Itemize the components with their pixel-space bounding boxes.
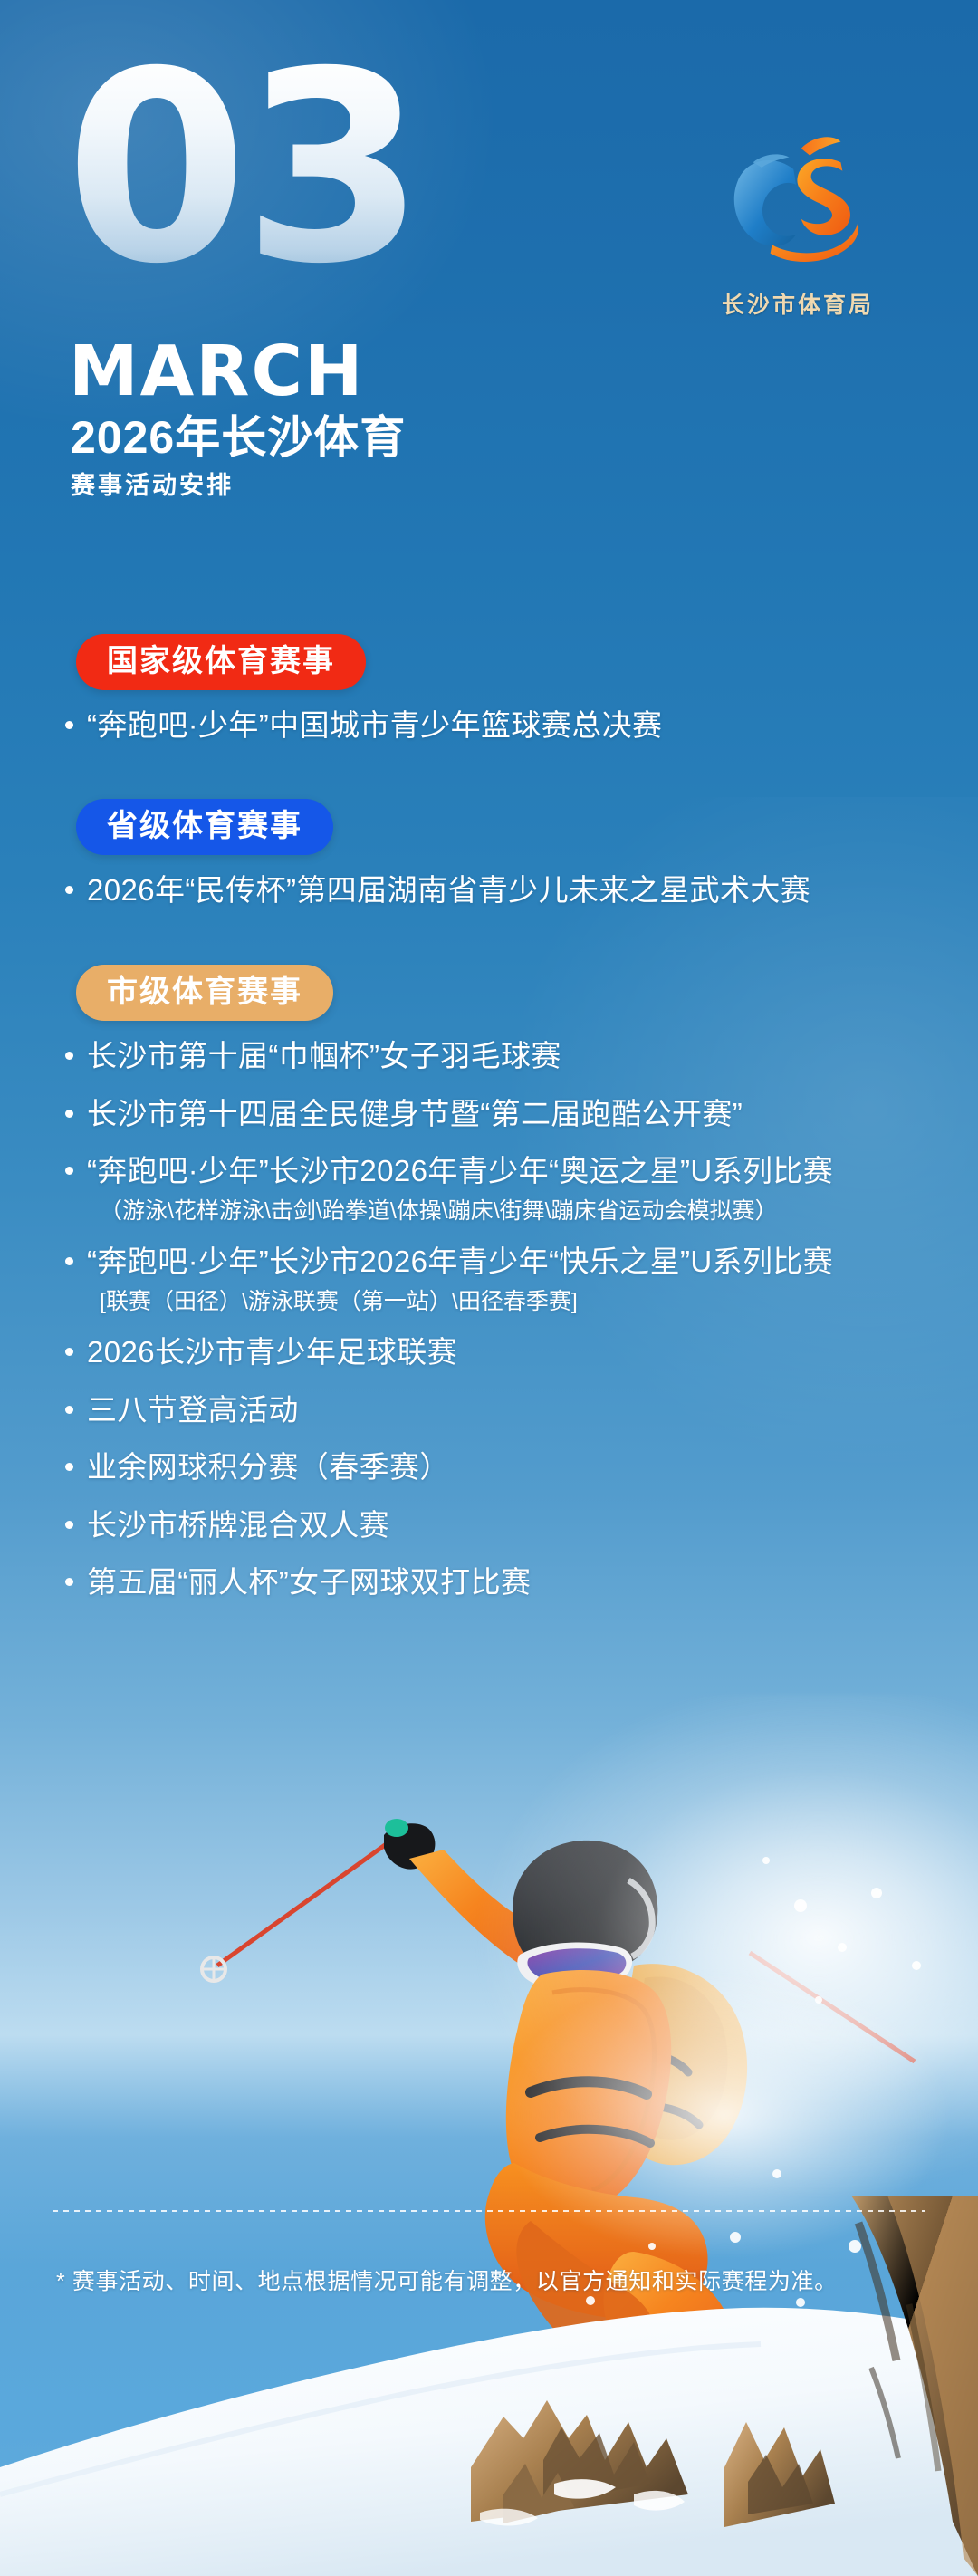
skier-photo [0,1667,978,2576]
event-title: 业余网球积分赛（春季赛） [87,1450,450,1484]
section-municipal: 市级体育赛事 长沙市第十届“巾帼杯”女子羽毛球赛 长沙市第十四届全民健身节暨“第… [0,965,978,1605]
section-badge-national: 国家级体育赛事 [76,634,366,690]
logo-caption: 长沙市体育局 [694,287,902,320]
poster-footer: * 赛事活动、时间、地点根据情况可能有调整，以官方通知和实际赛程为准。 [0,2210,978,2298]
disclaimer-text: * 赛事活动、时间、地点根据情况可能有调整，以官方通知和实际赛程为准。 [56,2266,927,2298]
section-badge-municipal: 市级体育赛事 [76,965,333,1021]
poster-root: 03 MARCH 2026年长沙体育 赛事活动安排 [0,0,978,2576]
event-title: “奔跑吧·少年”中国城市青少年篮球赛总决赛 [87,708,662,742]
event-subtitle: [联赛（田径）\游泳联赛（第一站）\田径春季赛] [87,1287,978,1318]
event-title: 长沙市第十届“巾帼杯”女子羽毛球赛 [87,1039,561,1072]
month-number: 03 [65,56,420,282]
organization-logo: 长沙市体育局 [694,116,902,342]
list-item: 第五届“丽人杯”女子网球双打比赛 [60,1560,978,1605]
section-provincial: 省级体育赛事 2026年“民传杯”第四届湖南省青少儿未来之星武术大赛 [0,799,978,913]
event-list-national: “奔跑吧·少年”中国城市青少年篮球赛总决赛 [0,703,978,748]
month-name: MARCH [69,337,364,407]
list-item: “奔跑吧·少年”中国城市青少年篮球赛总决赛 [60,703,978,748]
section-badge-provincial: 省级体育赛事 [76,799,333,855]
event-title: 长沙市桥牌混合双人赛 [87,1508,389,1542]
list-item: 业余网球积分赛（春季赛） [60,1445,978,1490]
event-title: 长沙市第十四届全民健身节暨“第二届跑酷公开赛” [87,1097,743,1130]
list-item: 长沙市第十四届全民健身节暨“第二届跑酷公开赛” [60,1091,978,1137]
cs-brushstroke-icon [712,116,884,284]
event-sections: 国家级体育赛事 “奔跑吧·少年”中国城市青少年篮球赛总决赛 省级体育赛事 202… [0,634,978,1605]
list-item: 长沙市第十届“巾帼杯”女子羽毛球赛 [60,1033,978,1079]
list-item: “奔跑吧·少年”长沙市2026年青少年“奥运之星”U系列比赛 （游泳\花样游泳\… [60,1149,978,1226]
event-title: 2026年“民传杯”第四届湖南省青少儿未来之星武术大赛 [87,873,810,907]
event-title: 三八节登高活动 [87,1393,299,1427]
section-national: 国家级体育赛事 “奔跑吧·少年”中国城市青少年篮球赛总决赛 [0,634,978,748]
skier-illustration [0,1667,978,2576]
event-title: 2026长沙市青少年足球联赛 [87,1335,457,1369]
snow-spray [471,1694,978,2201]
page-title: 2026年长沙体育 [71,415,406,460]
event-list-municipal: 长沙市第十届“巾帼杯”女子羽毛球赛 长沙市第十四届全民健身节暨“第二届跑酷公开赛… [0,1033,978,1605]
footer-divider [53,2210,925,2212]
page-subtitle: 赛事活动安排 [71,474,234,498]
event-list-provincial: 2026年“民传杯”第四届湖南省青少儿未来之星武术大赛 [0,868,978,913]
event-title: “奔跑吧·少年”长沙市2026年青少年“奥运之星”U系列比赛 [87,1154,833,1187]
event-title: 第五届“丽人杯”女子网球双打比赛 [87,1565,531,1599]
list-item: 2026长沙市青少年足球联赛 [60,1330,978,1375]
event-subtitle: （游泳\花样游泳\击剑\跆拳道\体操\蹦床\街舞\蹦床省运动会模拟赛） [87,1197,978,1227]
list-item: 2026年“民传杯”第四届湖南省青少儿未来之星武术大赛 [60,868,978,913]
event-title: “奔跑吧·少年”长沙市2026年青少年“快乐之星”U系列比赛 [87,1245,833,1278]
list-item: “奔跑吧·少年”长沙市2026年青少年“快乐之星”U系列比赛 [联赛（田径）\游… [60,1239,978,1317]
list-item: 三八节登高活动 [60,1388,978,1433]
list-item: 长沙市桥牌混合双人赛 [60,1503,978,1548]
